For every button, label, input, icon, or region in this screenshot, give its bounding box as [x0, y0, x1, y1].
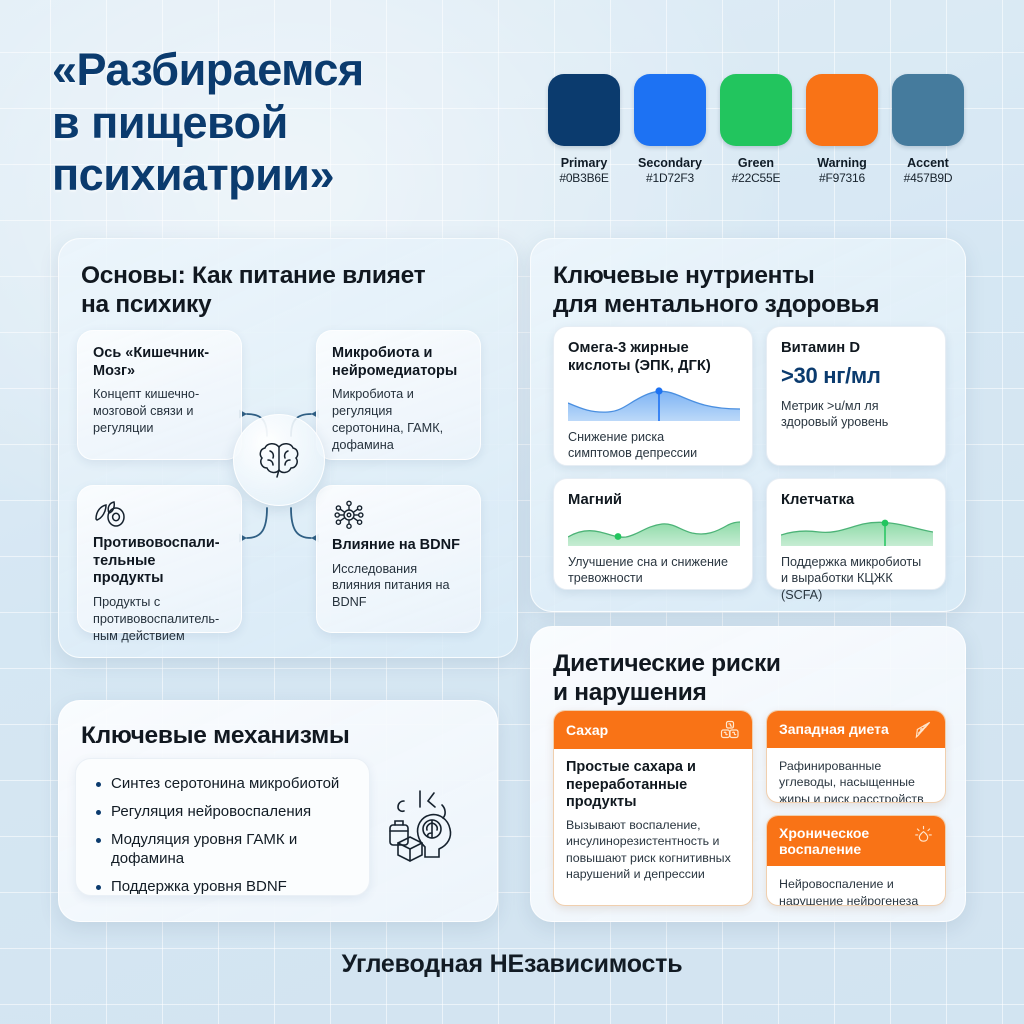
basics-card-bdnf[interactable]: Влияние на BDNF Исследования влияния пит… — [316, 485, 481, 633]
infographic-stage: «Разбираемся в пищевой психиатрии» Prima… — [0, 0, 1024, 1024]
risk-card-body: Простые сахара и переработанные продукты… — [554, 749, 752, 895]
risk-card-chronic-inflammation[interactable]: Хроническое воспаление Нейровоспаление и… — [766, 815, 946, 906]
nutrient-card-title-line-1: Омега-3 жирные — [568, 340, 689, 356]
risk-card-header-label: Западная диета — [779, 721, 889, 737]
palette-swatch-accent: Accent #457B9D — [892, 74, 964, 185]
leaf-avocado-icon — [93, 500, 226, 528]
nutrient-card-magnesium[interactable]: Магний Улучшение сна и снижение тревожно… — [553, 478, 753, 590]
basics-card-title: Влияние на BDNF — [332, 537, 465, 555]
caption-line-1: Поддержка микробиоты — [781, 554, 931, 571]
caption-line-1: Снижение риска — [568, 429, 738, 446]
mechanisms-list: Синтез серотонина микробиотой Регуляция … — [94, 775, 351, 896]
swatch-chip — [634, 74, 706, 146]
swatch-name: Green — [720, 156, 792, 170]
basics-card-title: Противовоспали- тельные продукты — [93, 535, 226, 588]
pizza-slice-icon — [914, 720, 933, 739]
risk-card-header: Западная диета — [767, 711, 945, 748]
list-item: Модуляция уровня ГАМК и дофамина — [94, 831, 351, 869]
inflammation-icon — [914, 825, 933, 844]
swatch-chip — [720, 74, 792, 146]
footer-brand: Углеводная НЕзависимость — [0, 950, 1024, 979]
omega3-area-chart — [568, 385, 738, 421]
basics-card-text: Микробиота и регуляция серотонина, ГАМК,… — [332, 386, 465, 453]
risk-card-body-title: Простые сахара и переработанные продукты — [566, 759, 740, 812]
caption-line-1: Улучшение сна и снижение — [568, 554, 738, 571]
basics-card-microbiota[interactable]: Микробиота и нейромедиаторы Микробиота и… — [316, 330, 481, 460]
panel-risks-title-line-1: Диетические риски — [553, 649, 953, 678]
nutrient-card-title: Клетчатка — [781, 492, 931, 510]
panel-basics-title-line-1: Основы: Как питание влияет — [81, 261, 501, 290]
nutrient-card-caption: Улучшение сна и снижение тревожности — [568, 554, 738, 587]
risk-card-western-diet[interactable]: Западная диета Рафинированные углеводы, … — [766, 710, 946, 803]
palette-swatch-green: Green #22C55E — [720, 74, 792, 185]
caption-line-2: симптомов депрессии — [568, 445, 738, 462]
risk-card-body: Нейровоспаление и нарушение нейрогенеза — [767, 866, 945, 906]
panel-nutrients-title-line-1: Ключевые нутриенты — [553, 261, 953, 290]
swatch-chip — [806, 74, 878, 146]
basics-card-title-line-1: Ось — [93, 345, 121, 361]
list-item: Поддержка уровня BDNF — [94, 878, 351, 897]
caption-line-2: тревожности — [568, 570, 738, 587]
swatch-hex: #0B3B6E — [548, 171, 620, 185]
vitamin-d-value: >30 нг/мл — [781, 363, 931, 389]
risk-card-sugar[interactable]: Сахар Простые сахара и переработанные пр… — [553, 710, 753, 906]
swatch-chip — [892, 74, 964, 146]
brain-icon — [256, 439, 302, 481]
swatch-name: Accent — [892, 156, 964, 170]
nutrient-card-title: Магний — [568, 492, 738, 510]
swatch-hex: #22C55E — [720, 171, 792, 185]
header-line-2: воспаление — [779, 841, 869, 857]
nutrient-card-title: Омега-3 жирные кислоты (ЭПК, ДГК) — [568, 340, 738, 376]
swatch-name: Warning — [806, 156, 878, 170]
swatch-name: Secondary — [634, 156, 706, 170]
nutrient-card-omega3[interactable]: Омега-3 жирные кислоты (ЭПК, ДГК) Снижен… — [553, 326, 753, 466]
list-item: Регуляция нейровоспаления — [94, 803, 351, 822]
basics-card-anti-inflammatory[interactable]: Противовоспали- тельные продукты Продукт… — [77, 485, 242, 633]
caption-line-1: Метрик >u/мл ля — [781, 398, 931, 415]
fiber-area-chart — [781, 518, 931, 546]
risk-card-header-label: Сахар — [566, 722, 608, 738]
nutrient-card-fiber[interactable]: Клетчатка Поддержка микробиоты и выработ… — [766, 478, 946, 590]
basics-card-title-line-1: Влияние на BDNF — [332, 537, 460, 553]
title-line-2: в пищевой — [52, 97, 522, 150]
risk-card-header: Сахар — [554, 711, 752, 749]
palette-swatch-secondary: Secondary #1D72F3 — [634, 74, 706, 185]
palette-swatch-warning: Warning #F97316 — [806, 74, 878, 185]
panel-risks-title-line-2: и нарушения — [553, 678, 953, 707]
panel-nutrients-title: Ключевые нутриенты для ментального здоро… — [553, 261, 953, 320]
risk-card-body-text: Нейровоспаление и нарушение нейрогенеза — [779, 876, 933, 906]
basics-card-title-line-1: Противовоспали- — [93, 535, 220, 551]
swatch-hex: #1D72F3 — [634, 171, 706, 185]
molecule-network-icon — [332, 500, 465, 530]
basics-card-title: Ось «Кишечник-Мозг» — [93, 345, 226, 380]
nutrient-card-title: Витамин D — [781, 340, 931, 358]
nutrient-card-caption: Поддержка микробиоты и выработки КЦЖК (S… — [781, 554, 931, 604]
title-line-3: психиатрии» — [52, 149, 522, 202]
body-title-line-3: продукты — [566, 794, 636, 810]
head-supplements-icon — [382, 785, 468, 863]
risk-card-body-text: Рафинированные углеводы, насыщенные жиры… — [779, 758, 933, 803]
color-palette: Primary #0B3B6E Secondary #1D72F3 Green … — [548, 74, 964, 185]
basics-card-title: Микробиота и нейромедиаторы — [332, 345, 465, 380]
nutrient-card-vitamin-d[interactable]: Витамин D >30 нг/мл Метрик >u/мл ля здор… — [766, 326, 946, 466]
basics-card-title-line-1: Микробиота и — [332, 345, 432, 361]
panel-risks-title: Диетические риски и нарушения — [553, 649, 953, 708]
mechanisms-list-box: Синтез серотонина микробиотой Регуляция … — [75, 758, 370, 896]
nutrient-card-caption: Метрик >u/мл ля здоровый уровень — [781, 398, 931, 431]
swatch-hex: #F97316 — [806, 171, 878, 185]
basics-card-text: Концепт кишечно-мозговой связи и регуляц… — [93, 386, 226, 436]
panel-nutrients-title-line-2: для ментального здоровья — [553, 290, 953, 319]
brain-hub — [233, 414, 325, 506]
palette-swatch-primary: Primary #0B3B6E — [548, 74, 620, 185]
nutrient-card-caption: Снижение риска симптомов депрессии — [568, 429, 738, 462]
risk-card-header: Хроническое воспаление — [767, 816, 945, 866]
sugar-cubes-icon — [720, 720, 740, 740]
body-title-line-1: Простые сахара — [566, 759, 683, 775]
swatch-name: Primary — [548, 156, 620, 170]
swatch-chip — [548, 74, 620, 146]
panel-basics-title: Основы: Как питание влияет на психику — [81, 261, 501, 320]
risk-card-header-label: Хроническое воспаление — [779, 825, 869, 857]
caption-line-2: здоровый уровень — [781, 414, 931, 431]
basics-card-gut-brain-axis[interactable]: Ось «Кишечник-Мозг» Концепт кишечно-мозг… — [77, 330, 242, 460]
list-item: Синтез серотонина микробиотой — [94, 775, 351, 794]
basics-card-text: Продукты с противовоспалитель-ным действ… — [93, 594, 226, 644]
magnesium-area-chart — [568, 518, 738, 546]
risk-card-body-text: Вызывают воспаление, инсулинорезистентно… — [566, 817, 740, 883]
nutrient-card-title-line-2: кислоты (ЭПК, ДГК) — [568, 358, 711, 374]
panel-mechanisms-title: Ключевые механизмы — [81, 721, 350, 750]
basics-card-text: Исследования влияния питания на BDNF — [332, 561, 465, 611]
basics-card-title-line-2: тельные продукты — [93, 553, 163, 587]
risk-card-body: Рафинированные углеводы, насыщенные жиры… — [767, 748, 945, 803]
panel-basics-title-line-2: на психику — [81, 290, 501, 319]
basics-card-title-line-2: нейромедиаторы — [332, 363, 457, 379]
swatch-hex: #457B9D — [892, 171, 964, 185]
title-line-1: «Разбираемся — [52, 44, 522, 97]
caption-line-2: и выработки КЦЖК (SCFA) — [781, 570, 931, 603]
header-line-1: Хроническое — [779, 825, 869, 841]
page-title: «Разбираемся в пищевой психиатрии» — [52, 44, 522, 202]
